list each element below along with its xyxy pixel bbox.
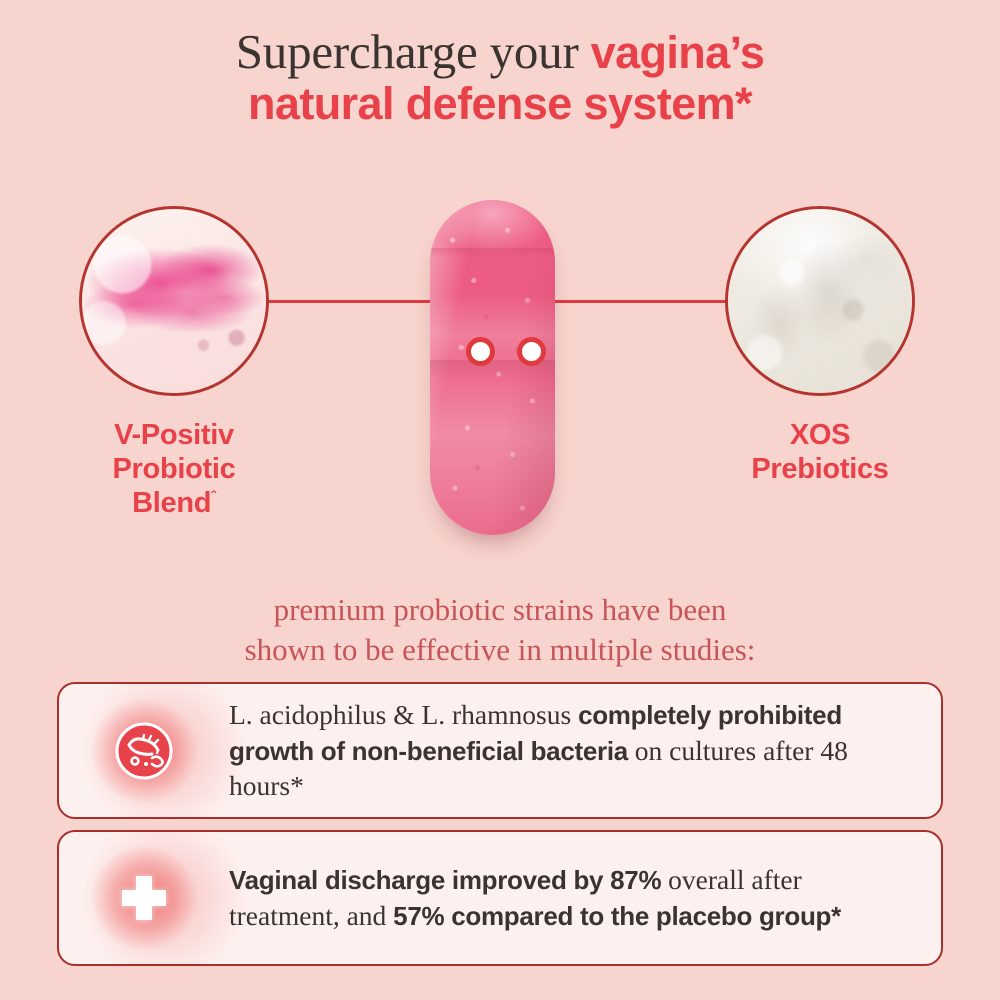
xos-powder-photo [725, 206, 915, 396]
claim-2-segment-1: Vaginal discharge improved by 87% [229, 865, 661, 895]
capsule-cap-line [430, 248, 555, 258]
claim-text: Vaginal discharge improved by 87% overal… [229, 862, 941, 934]
claim-card: Vaginal discharge improved by 87% overal… [57, 830, 943, 966]
claim-text: L. acidophilus & L. rhamnosus completely… [229, 697, 941, 804]
probiotic-blend-label: V-Positiv Probiotic Blendˆ [24, 418, 324, 521]
headline-accent-text: vagina’s [591, 27, 765, 78]
headline-line-1: Supercharge your vagina’s [0, 26, 1000, 78]
intro-line-1: premium probiotic strains have been [274, 592, 727, 627]
swirl-texture [82, 209, 266, 393]
claim-card: L. acidophilus & L. rhamnosus completely… [57, 682, 943, 819]
trademark-mark: ˆ [211, 489, 216, 506]
claim-1-segment-1: L. acidophilus & L. rhamnosus [229, 699, 578, 730]
claim-icon-container [59, 697, 229, 805]
probiotic-label-line-2: Probiotic [113, 453, 236, 485]
leader-line-right [528, 300, 728, 303]
prebiotic-label-line-2: Prebiotics [751, 453, 888, 485]
probiotic-label-line-3: Blend [132, 487, 211, 519]
page-headline: Supercharge your vagina’s natural defens… [0, 26, 1000, 128]
probiotic-swirl-photo [79, 206, 269, 396]
xos-prebiotics-label: XOS Prebiotics [690, 418, 950, 486]
claim-2-segment-3: 57% compared to the placebo group* [393, 901, 841, 931]
icon-glow [90, 844, 198, 952]
medical-cross-icon [113, 867, 175, 929]
infographic-canvas: Supercharge your vagina’s natural defens… [0, 0, 1000, 1000]
claim-icon-container [59, 844, 229, 952]
intro-line-2: shown to be effective in multiple studie… [245, 632, 756, 667]
hero-diagram: V-Positiv Probiotic Blendˆ XOS Prebiotic… [0, 150, 1000, 550]
headline-line-2: natural defense system* [0, 80, 1000, 128]
icon-glow [90, 697, 198, 805]
headline-plain-text: Supercharge your [236, 24, 591, 79]
prebiotic-callout-dot [517, 337, 546, 366]
probiotic-label-line-1: V-Positiv [114, 419, 234, 451]
pink-capsule [430, 200, 555, 535]
intro-statement: premium probiotic strains have been show… [0, 590, 1000, 669]
microbe-icon [113, 720, 175, 782]
prebiotic-label-line-1: XOS [790, 419, 850, 451]
headline-accent-text-2: natural defense system* [248, 78, 752, 129]
probiotic-callout-dot [466, 337, 495, 366]
powder-texture [728, 209, 912, 393]
